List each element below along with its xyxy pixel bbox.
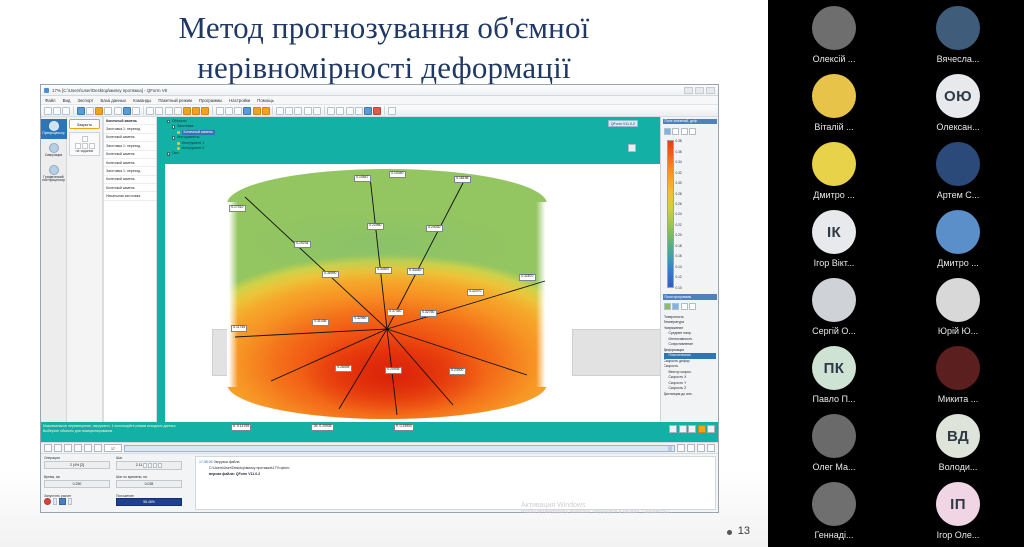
participant-name: Ігор Оле... [937, 530, 980, 540]
report-icon[interactable] [336, 107, 344, 115]
avatar-initials[interactable]: ПК [812, 346, 856, 390]
tree-node-label: Инструмент 2 [182, 146, 205, 151]
list-item[interactable]: Начальная заготовка [104, 192, 156, 200]
billet-mask-right [536, 202, 547, 387]
fields-toolbar[interactable] [663, 302, 717, 312]
help-tool-icon[interactable] [388, 107, 396, 115]
view-mode-button[interactable] [669, 425, 677, 433]
hint-line-2: Выберите объекты для позиционирования [43, 429, 176, 434]
field-probe-icon[interactable] [689, 303, 696, 310]
toolbar-separator-2 [143, 106, 144, 115]
field-step-label: Шаг [116, 456, 182, 460]
menu-item-batch[interactable]: Пакетный режим [158, 98, 192, 103]
legend-color-icon[interactable] [664, 128, 671, 135]
scale-tick: 0.32 [676, 172, 682, 175]
field-operation-label: Операция [44, 456, 110, 460]
maximize-button[interactable] [695, 87, 704, 94]
axis-icon[interactable] [276, 107, 284, 115]
chevron-down-icon[interactable] [104, 107, 112, 115]
participant-tile[interactable]: Юрій Ю... [896, 274, 1020, 342]
plot-label: 0.23900 [449, 368, 466, 375]
print-icon[interactable] [313, 107, 321, 115]
scale-tick: 0.30 [676, 182, 682, 185]
field-time-label: Время, мс [44, 475, 110, 479]
expand-icon[interactable]: - [167, 120, 170, 123]
redo-icon[interactable] [192, 107, 200, 115]
participant-name: Вячесла... [937, 54, 980, 64]
plot-label: 0.28495 [335, 365, 352, 372]
legend-panel-title: Поле значений, деф. [663, 119, 717, 125]
object-dot-icon [177, 131, 180, 134]
participant-tile[interactable]: Геннаді... [772, 478, 896, 546]
scale-tick: 0.24 [676, 213, 682, 216]
postprocessor-icon [49, 165, 59, 175]
run-label: Запустить расчет [44, 494, 110, 498]
presentation-slide: Метод прогнозування об'ємної нерівномірн… [0, 0, 768, 547]
viewport-options-button[interactable] [628, 144, 636, 152]
scale-tick: 0.12 [676, 276, 682, 279]
list-item[interactable]: Конечный камень [104, 184, 156, 192]
object-dot-icon [177, 142, 180, 145]
mesh-preview-row-1 [72, 136, 97, 142]
avatar[interactable] [812, 482, 856, 526]
participant-tile[interactable]: ПК Павло П... [772, 342, 896, 410]
sidebar-item-preprocessor-label: Препроцессор [41, 132, 67, 136]
run-buttons[interactable] [44, 498, 110, 505]
fit-view-icon[interactable] [165, 107, 173, 115]
plot-label: 0.31436 [312, 319, 329, 326]
plot-label: 6. 0.14769 [231, 424, 251, 431]
cut-icon[interactable] [225, 107, 233, 115]
chart-icon[interactable] [327, 107, 335, 115]
avatar[interactable] [936, 346, 980, 390]
avatar[interactable] [812, 6, 856, 50]
color-scale-ticks: 0.38 0.36 0.34 0.32 0.30 0.28 0.26 0.24 … [676, 140, 682, 290]
list-item[interactable]: Конечный камень [104, 117, 156, 125]
participant-tile[interactable]: Олексій ... [772, 2, 896, 70]
plot-label: 0.32960 [352, 316, 369, 323]
hint-bar-buttons[interactable] [669, 425, 715, 433]
deformation-contour-plot[interactable]: 0.17010 0.10847 0.10340 0.18198 0.22980 … [227, 169, 547, 419]
avatar-initials[interactable]: ІК [812, 210, 856, 254]
minimize-button[interactable] [684, 87, 693, 94]
plot-label: 0.18198 [454, 176, 471, 183]
expand-icon[interactable]: - [172, 136, 175, 139]
chevron-down-icon-2[interactable] [132, 107, 140, 115]
stepper-down-icon[interactable] [148, 463, 152, 468]
close-button[interactable] [706, 87, 715, 94]
simulation-parameters: Операция 2 (4% [2] Шаг 2.11 [41, 454, 193, 512]
plot-label: 0.33440 [407, 268, 424, 275]
tool-plate-right [572, 329, 660, 376]
list-item[interactable]: Конечный камень [104, 176, 156, 184]
selection-overlay-edge [157, 117, 165, 422]
watermark-line-1: Активация Windows [521, 502, 672, 509]
sidebar-item-preprocessor[interactable]: Препроцессор [41, 119, 67, 139]
field-operation: Операция 2 (4% [2] [44, 456, 110, 473]
avatar[interactable] [812, 278, 856, 322]
run-record-icon[interactable] [44, 498, 51, 505]
new-file-icon[interactable] [44, 107, 52, 115]
menu-item-view[interactable]: Вид [63, 98, 71, 103]
field-mesh-icon[interactable] [672, 303, 679, 310]
app-toolbar[interactable] [41, 105, 718, 117]
widget-caption: на задании [72, 149, 97, 153]
scale-tick: 0.18 [676, 245, 682, 248]
mesh-preview-widget[interactable]: на задании [69, 132, 100, 156]
toolbar-separator-3 [212, 106, 213, 115]
participant-name: Артем С... [937, 190, 980, 200]
speed-button[interactable] [687, 444, 695, 452]
participant-name: Дмитро ... [937, 258, 978, 268]
progress-label: Положение [116, 494, 182, 498]
sidebar-item-simulation[interactable]: Симуляция [41, 141, 67, 161]
participant-tile[interactable]: Микита ... [896, 342, 1020, 410]
close-panel-button[interactable]: Закрыть [69, 119, 100, 129]
sync-icon[interactable] [216, 107, 224, 115]
app-menubar[interactable]: Файл Вид Экспорт База данных Команды Пак… [41, 96, 718, 105]
legend-lock-icon[interactable] [689, 128, 696, 135]
plot-label: 0.19234 [294, 241, 311, 248]
log-timestamp: 17:38:26 [199, 460, 213, 464]
avatar[interactable] [812, 414, 856, 458]
toolbar-separator-6 [384, 106, 385, 115]
app-body: Препроцессор Симуляция Графический постп… [41, 117, 718, 422]
object-list[interactable]: Конечный камень Заготовка 1: переход Кон… [103, 117, 157, 422]
zoom-out-icon[interactable] [155, 107, 163, 115]
refresh-icon[interactable] [201, 107, 209, 115]
run-start-icon[interactable] [59, 498, 66, 505]
color-scale-bar [667, 140, 674, 288]
plot-label-max: 0.38990 [322, 271, 339, 278]
participant-name: Микита ... [938, 394, 979, 404]
list-item[interactable]: Конечный камень [104, 151, 156, 159]
participant-tile[interactable]: ОЮ Олексан... [896, 70, 1020, 138]
plot-label: 0.32470 [467, 289, 484, 296]
avatar[interactable] [936, 278, 980, 322]
legend-toolbar[interactable] [663, 126, 717, 136]
color-scale: 0.38 0.36 0.34 0.32 0.30 0.28 0.26 0.24 … [663, 138, 717, 292]
list-item[interactable]: Заготовка 1: переход [104, 125, 156, 133]
record-button[interactable] [44, 444, 52, 452]
run-dropdown-icon[interactable] [53, 498, 57, 505]
legend-settings-icon[interactable] [672, 128, 679, 135]
contour-icon[interactable] [262, 107, 270, 115]
hint-line-1: Максимальное перемещение, загружено: 1 и… [43, 424, 176, 429]
scale-tick: 0.34 [676, 161, 682, 164]
plot-label: 0.10847 [354, 175, 371, 182]
scale-tick: 0.16 [676, 255, 682, 258]
qform-application-window: 17% [C:\Users\User\Desktop\милку протяжк… [40, 84, 719, 513]
participant-name: Віталій ... [814, 122, 853, 132]
run-controls: Запустить расчет [44, 494, 110, 510]
field-surface-icon[interactable] [664, 303, 671, 310]
avatar-initials[interactable]: ВД [936, 414, 980, 458]
plot-label: 0.32870 [519, 274, 536, 281]
page-title: Метод прогнозування об'ємної нерівномірн… [40, 8, 728, 89]
progress-block: Положение 98.46% [116, 494, 182, 510]
window-controls[interactable] [684, 87, 715, 94]
fields-tree[interactable]: Поверхность Температура Напряжение Средн… [663, 314, 717, 399]
last-step-button[interactable] [697, 444, 705, 452]
open-file-icon[interactable] [53, 107, 61, 115]
field-item-distance[interactable]: Дистанция до инс. [664, 392, 716, 398]
field-icon[interactable] [253, 107, 261, 115]
menu-item-commands[interactable]: Команды [133, 98, 151, 103]
field-time-value[interactable]: 0.250 [44, 480, 110, 488]
avatar[interactable] [812, 74, 856, 118]
list-item[interactable]: Конечный камень [104, 159, 156, 167]
fields-panel-title: Поля программы [663, 294, 717, 300]
loop-button[interactable] [677, 444, 685, 452]
rotate-icon[interactable] [114, 107, 122, 115]
avatar-initials[interactable]: ОЮ [936, 74, 980, 118]
tool-column: Закрыть на задании [67, 117, 103, 422]
export-button[interactable] [688, 425, 696, 433]
avatar[interactable] [936, 210, 980, 254]
expand-icon[interactable]: + [167, 152, 170, 155]
menu-item-export[interactable]: Экспорт [77, 98, 93, 103]
playback-toolbar[interactable]: 17 [41, 442, 718, 454]
hint-inline-labels: 6. 0.14769 26. 0.20935 9. 0.23900 [231, 424, 414, 431]
screen-root: Метод прогнозування об'ємної нерівномірн… [0, 0, 1024, 547]
participant-name: Геннаді... [815, 530, 854, 540]
object-tree[interactable]: - Объекты - Заготовка Конечный камень [167, 119, 245, 157]
plot-label: 0.37340 [387, 309, 404, 316]
participants-panel[interactable]: Олексій ... Вячесла... Віталій ... ОЮ Ол… [768, 0, 1024, 547]
field-step-value: 2.11 [136, 463, 143, 467]
settings-button[interactable] [707, 425, 715, 433]
progress-bar: 98.46% [116, 498, 182, 506]
timeline-slider[interactable] [124, 445, 675, 452]
toolbar-separator-5 [324, 106, 325, 115]
app-titlebar: 17% [C:\Users\User\Desktop\милку протяжк… [41, 85, 718, 96]
participant-tile[interactable]: Дмитро ... [896, 206, 1020, 274]
move-icon[interactable] [174, 107, 182, 115]
participant-tile[interactable]: ІК Ігор Вікт... [772, 206, 896, 274]
plot-label: 0.20935 [385, 367, 402, 374]
participant-name: Павло П... [813, 394, 856, 404]
legend-range-icon[interactable] [681, 128, 688, 135]
participant-name: Володи... [939, 462, 978, 472]
plot-label: 0.32760 [420, 310, 437, 317]
scale-tick: 0.22 [676, 224, 682, 227]
field-vector-icon[interactable] [681, 303, 688, 310]
slide-bullet-icon [727, 530, 732, 535]
hint-text: Максимальное перемещение, загружено: 1 и… [43, 424, 176, 435]
scale-tick: 0.26 [676, 203, 682, 206]
selection-overlay-right [642, 117, 660, 164]
layers-icon[interactable] [294, 107, 302, 115]
title-line-1: Метод прогнозування об'ємної [40, 8, 728, 48]
toolbar-separator-4 [272, 106, 273, 115]
plot-label: 0.10340 [389, 171, 406, 178]
slide-number: 13 [738, 525, 750, 537]
participant-name: Юрій Ю... [938, 326, 978, 336]
stepper-max-icon[interactable] [153, 463, 157, 468]
viewport-canvas[interactable]: - Объекты - Заготовка Конечный камень [157, 117, 660, 422]
billet-mask-left [227, 202, 238, 387]
participant-tile[interactable]: ІП Ігор Оле... [896, 478, 1020, 546]
avatar[interactable] [812, 142, 856, 186]
section-icon[interactable] [285, 107, 293, 115]
app-title: 17% [C:\Users\User\Desktop\милку протяжк… [52, 88, 167, 93]
run-options-icon[interactable] [68, 498, 72, 505]
mode-sidebar[interactable]: Препроцессор Симуляция Графический постп… [41, 117, 67, 422]
field-time: Время, мс 0.250 [44, 475, 110, 491]
field-time-step: Шаг по времени, мс 0.028 [116, 475, 182, 491]
grid-icon[interactable] [243, 107, 251, 115]
undo-icon[interactable] [183, 107, 191, 115]
participant-name: Ігор Вікт... [814, 258, 855, 268]
fields-panel[interactable]: Поле значений, деф. 0.38 0.36 0.34 [660, 117, 718, 422]
expand-icon[interactable]: - [172, 125, 175, 128]
camera-icon[interactable] [304, 107, 312, 115]
measure-button[interactable] [679, 425, 687, 433]
menu-item-help[interactable]: Помощь [257, 98, 274, 103]
participant-name: Олексій ... [813, 54, 856, 64]
play-button[interactable] [84, 444, 92, 452]
avatar[interactable] [936, 6, 980, 50]
field-operation-value[interactable]: 2 (4% [2] [44, 461, 110, 469]
plot-label: 0.34597 [375, 267, 392, 274]
stepper-min-icon[interactable] [158, 463, 162, 468]
mesh-icon[interactable] [77, 107, 85, 115]
simulation-icon [49, 143, 59, 153]
plot-label: 9. 0.23900 [394, 424, 414, 431]
field-time-step-value[interactable]: 0.028 [116, 480, 182, 488]
pencil-icon[interactable] [346, 107, 354, 115]
scale-tick: 0.14 [676, 266, 682, 269]
list-item[interactable]: Конечный камень [104, 134, 156, 142]
scale-tick: 0.38 [676, 140, 682, 143]
cursor-icon[interactable] [86, 107, 94, 115]
stepper-up-icon[interactable] [143, 463, 147, 468]
highlight-icon[interactable] [95, 107, 103, 115]
tree-node[interactable]: + Оси [167, 151, 245, 156]
list-item[interactable]: Заготовка 1: переход [104, 142, 156, 150]
toolbar-separator [73, 106, 74, 115]
list-view-button[interactable] [707, 444, 715, 452]
prev-step-button[interactable] [74, 444, 82, 452]
plot-label: 26. 0.20935 [311, 424, 333, 431]
step-number-input[interactable]: 17 [104, 444, 122, 452]
field-time-step-label: Шаг по времени, мс [116, 475, 182, 479]
title-line-2: нерівномірності деформації [40, 48, 728, 88]
participant-name: Олег Ма... [812, 462, 855, 472]
scale-tick: 0.28 [676, 193, 682, 196]
participant-tile[interactable]: Сергій О... [772, 274, 896, 342]
scale-tick: 0.20 [676, 234, 682, 237]
hash-icon[interactable] [234, 107, 242, 115]
plot-label: 0.22980 [367, 223, 384, 230]
menu-item-database[interactable]: База данных [101, 98, 127, 103]
hint-bar: Максимальное перемещение, загружено: 1 и… [41, 422, 718, 442]
object-dot-icon [177, 147, 180, 150]
plot-label: 0.24030 [426, 225, 443, 232]
tree-node-label: Оси [172, 151, 179, 156]
avatar-initials[interactable]: ІП [936, 482, 980, 526]
field-step: Шаг 2.11 [116, 456, 182, 473]
sidebar-item-postprocessor[interactable]: Графический постпроцессор [41, 163, 67, 187]
windows-activation-watermark: Активация Windows Чтобы активировать Win… [521, 502, 672, 515]
participant-tile[interactable]: Олег Ма... [772, 410, 896, 478]
stop-icon[interactable] [373, 107, 381, 115]
document-tab[interactable]: QForm V11.0.2 [608, 120, 638, 127]
log-line-1: Загрузка файла [214, 460, 240, 464]
participant-tile[interactable]: Артем С... [896, 138, 1020, 206]
monitor-icon[interactable] [123, 107, 131, 115]
sidebar-item-simulation-label: Симуляция [41, 154, 67, 158]
menu-item-settings[interactable]: Настройки [229, 98, 250, 103]
plot-label: 0.17010 [229, 205, 246, 212]
snapshot-button[interactable] [54, 444, 62, 452]
save-icon[interactable] [62, 107, 70, 115]
app-icon [44, 88, 49, 93]
preprocessor-icon [49, 121, 59, 131]
participant-tile[interactable]: Вячесла... [896, 2, 1020, 70]
participant-tile[interactable]: ВД Володи... [896, 410, 1020, 478]
list-item[interactable]: Заготовка 1: переход [104, 167, 156, 175]
participant-tile[interactable]: Віталій ... [772, 70, 896, 138]
table-icon[interactable] [364, 107, 372, 115]
menu-item-programs[interactable]: Программы [199, 98, 222, 103]
scale-tick: 0.10 [676, 287, 682, 290]
next-step-button[interactable] [94, 444, 102, 452]
participant-name: Сергій О... [812, 326, 856, 336]
watermark-line-2: Чтобы активировать Windows, перейдите в … [521, 509, 672, 515]
mesh-cell [82, 136, 88, 142]
plot-label: 0.11745 [231, 325, 247, 332]
ruler-icon[interactable] [355, 107, 363, 115]
avatar[interactable] [936, 142, 980, 186]
first-step-button[interactable] [64, 444, 72, 452]
scale-tick: 0.36 [676, 151, 682, 154]
log-line-3: версия файла: QForm V11.0.2 [199, 471, 712, 477]
participant-name: Дмитро ... [813, 190, 854, 200]
billet-contour-field [227, 169, 547, 419]
highlight-button[interactable] [698, 425, 706, 433]
participant-tile[interactable]: Дмитро ... [772, 138, 896, 206]
participant-name: Олексан... [936, 122, 979, 132]
zoom-in-icon[interactable] [146, 107, 154, 115]
sidebar-item-postprocessor-label: Графический постпроцессор [41, 176, 67, 184]
field-step-value-row[interactable]: 2.11 [116, 461, 182, 470]
menu-item-file[interactable]: Файл [45, 98, 56, 103]
